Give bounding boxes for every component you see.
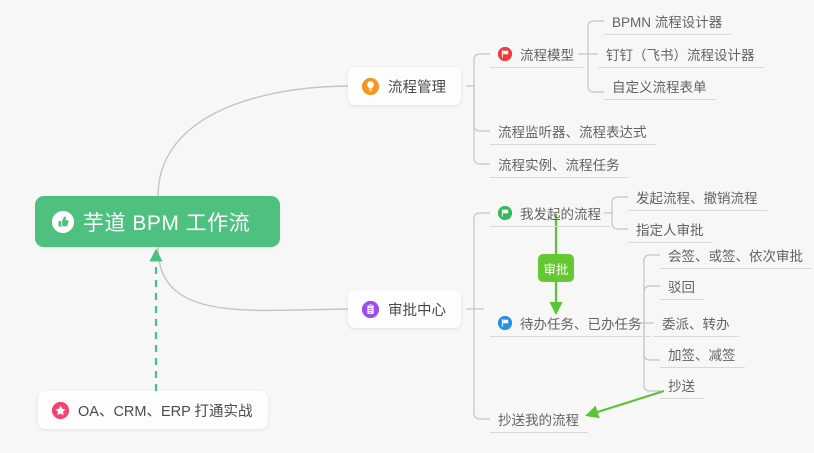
node-assignee-approval[interactable]: 指定人审批 <box>628 215 713 243</box>
node-cc-to-me-label: 抄送我的流程 <box>498 409 579 429</box>
flag-circle-icon <box>498 316 512 330</box>
branch-process-management[interactable]: 流程管理 <box>348 67 461 105</box>
callout-integration[interactable]: OA、CRM、ERP 打通实战 <box>38 391 268 429</box>
wire-mine-to-assignee <box>612 213 628 229</box>
node-delegate-transfer[interactable]: 委派、转办 <box>654 309 739 337</box>
wire-pm-to-listener <box>474 86 490 131</box>
node-assignee-approval-label: 指定人审批 <box>636 219 704 239</box>
node-bpmn-designer-label: BPMN 流程设计器 <box>612 11 722 31</box>
wire-ac-to-my-initiated <box>474 213 490 309</box>
node-listener-expression-label: 流程监听器、流程表达式 <box>498 121 647 141</box>
mindmap-canvas: 芋道 BPM 工作流 流程管理 审批中心 <box>0 0 814 453</box>
wire-root-to-process-management <box>158 86 348 196</box>
node-delegate-transfer-label: 委派、转办 <box>662 313 730 333</box>
thumbs-up-circle-icon <box>52 211 74 233</box>
node-bpmn-designer[interactable]: BPMN 流程设计器 <box>604 7 731 35</box>
flag-circle-icon <box>498 47 512 61</box>
node-countersign-label: 会签、或签、依次审批 <box>668 245 803 265</box>
node-todo-done-tasks[interactable]: 待办任务、已办任务 <box>490 309 651 337</box>
node-my-initiated-label: 我发起的流程 <box>520 203 601 223</box>
node-my-initiated[interactable]: 我发起的流程 <box>490 199 610 227</box>
node-instance-task-label: 流程实例、流程任务 <box>498 154 620 174</box>
wire-pm-to-process-model <box>474 54 490 86</box>
node-instance-task[interactable]: 流程实例、流程任务 <box>490 150 629 178</box>
callout-integration-label: OA、CRM、ERP 打通实战 <box>78 400 253 421</box>
node-dingtalk-feishu-designer[interactable]: 钉钉（飞书）流程设计器 <box>598 40 764 68</box>
node-custom-process-form-label: 自定义流程表单 <box>612 76 707 96</box>
root-node-label: 芋道 BPM 工作流 <box>83 207 250 237</box>
wire-pm-to-instance <box>474 86 490 164</box>
wire-root-to-approval-center <box>158 247 348 310</box>
node-add-remove-sign[interactable]: 加签、减签 <box>660 340 745 368</box>
approval-badge: 审批 <box>538 254 574 282</box>
node-start-cancel-label: 发起流程、撤销流程 <box>636 187 758 207</box>
branch-approval-center-label: 审批中心 <box>388 299 446 320</box>
node-start-cancel[interactable]: 发起流程、撤销流程 <box>628 183 767 211</box>
star-circle-icon <box>52 402 69 419</box>
node-todo-done-tasks-label: 待办任务、已办任务 <box>520 313 642 333</box>
node-cc[interactable]: 抄送 <box>660 371 704 399</box>
approval-badge-label: 审批 <box>543 259 568 278</box>
lightbulb-circle-icon <box>362 78 379 95</box>
node-reject[interactable]: 驳回 <box>660 272 704 300</box>
root-node[interactable]: 芋道 BPM 工作流 <box>35 196 280 247</box>
clipboard-circle-icon <box>362 301 379 318</box>
node-reject-label: 驳回 <box>668 276 695 296</box>
wire-ac-to-cc-to-me <box>474 309 490 419</box>
node-custom-process-form[interactable]: 自定义流程表单 <box>604 72 716 100</box>
node-process-model[interactable]: 流程模型 <box>490 40 583 68</box>
node-cc-label: 抄送 <box>668 375 695 395</box>
branch-approval-center[interactable]: 审批中心 <box>348 290 461 328</box>
wire-mine-to-start-cancel <box>612 197 628 213</box>
node-countersign[interactable]: 会签、或签、依次审批 <box>660 241 812 269</box>
node-dingtalk-feishu-designer-label: 钉钉（飞书）流程设计器 <box>606 44 755 64</box>
node-add-remove-sign-label: 加签、减签 <box>668 344 736 364</box>
node-listener-expression[interactable]: 流程监听器、流程表达式 <box>490 117 656 145</box>
node-cc-to-me[interactable]: 抄送我的流程 <box>490 405 588 433</box>
branch-process-management-label: 流程管理 <box>388 76 446 97</box>
flag-circle-icon <box>498 206 512 220</box>
wire-cc-to-cc-to-me <box>588 391 664 415</box>
node-process-model-label: 流程模型 <box>520 44 574 64</box>
